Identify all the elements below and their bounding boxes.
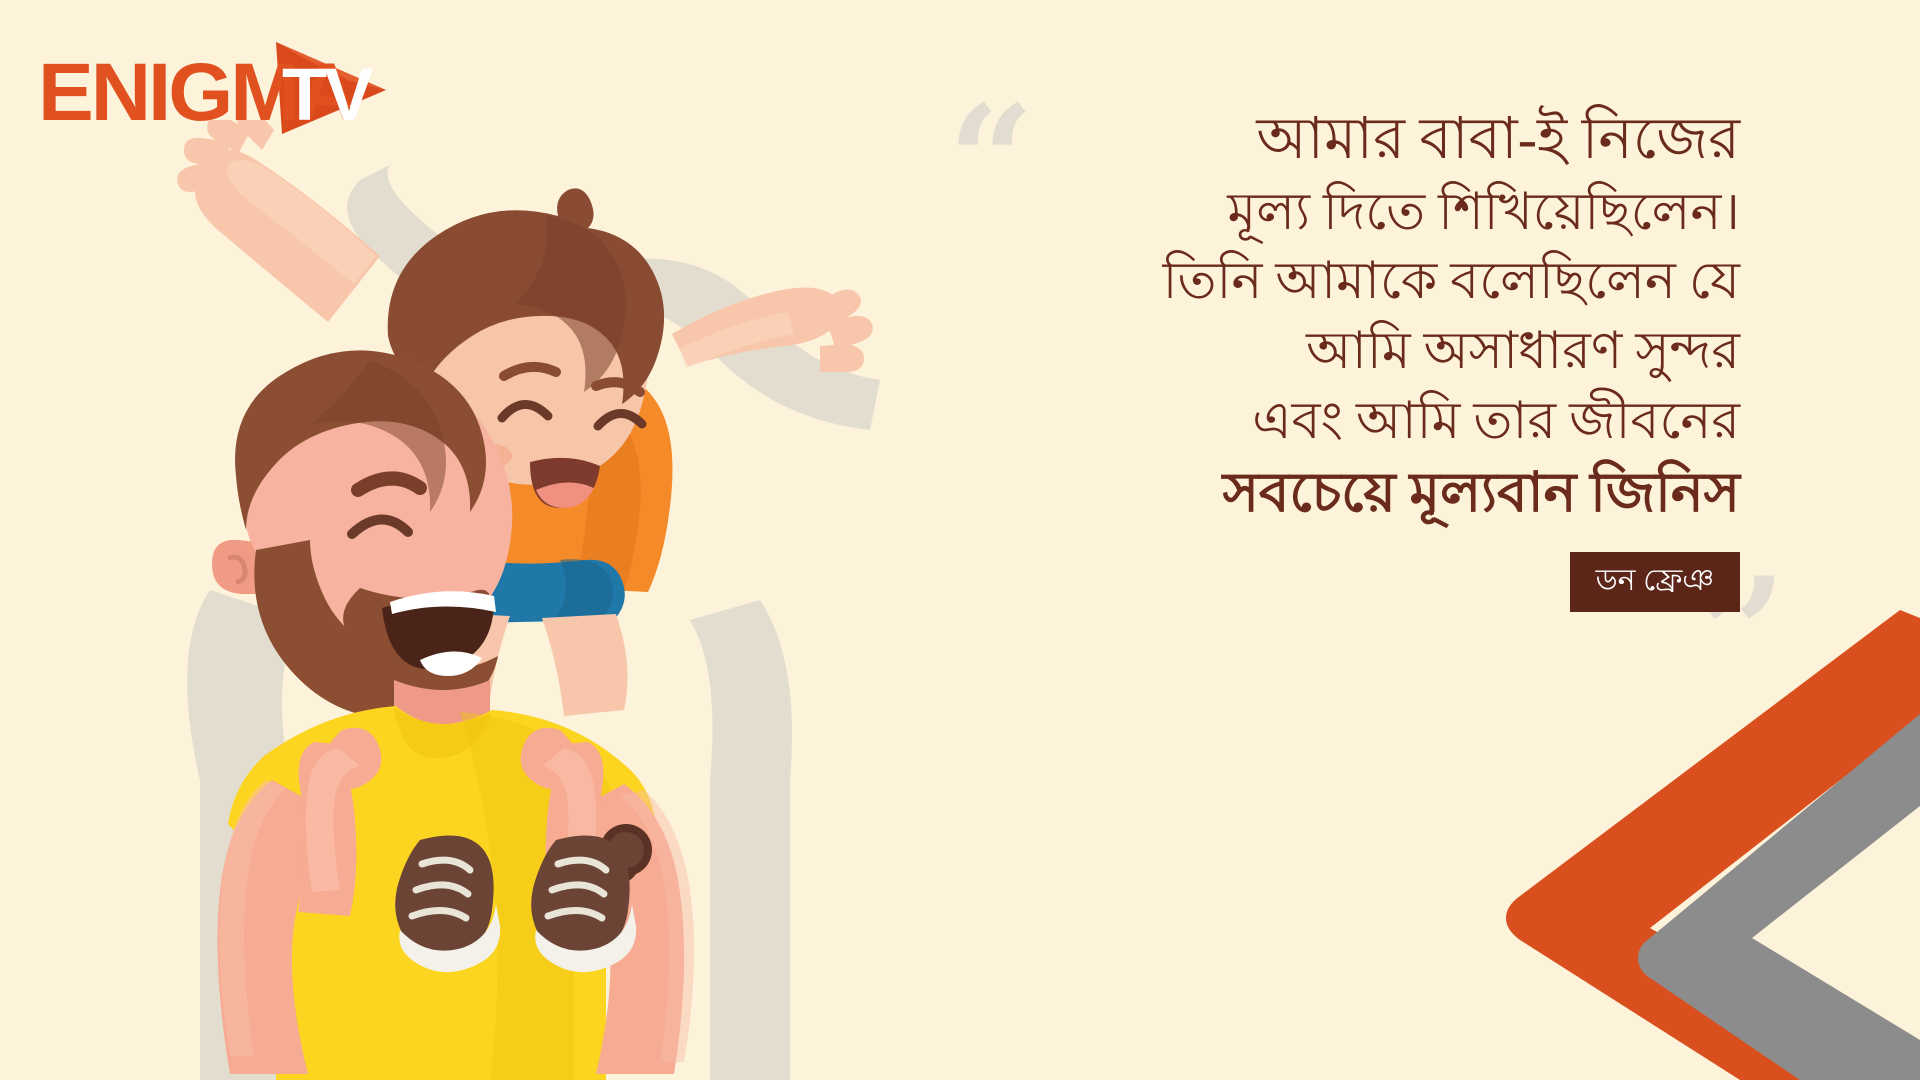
chevron-decoration: [1500, 610, 1920, 1080]
quote-line-1: আমার বাবা-ই নিজের: [980, 100, 1740, 178]
poster-canvas: ENIGMA TV: [0, 0, 1920, 1080]
father-and-son-illustration: [60, 120, 1000, 1080]
quote-line-3: তিনি আমাকে বলেছিলেন যে: [980, 247, 1740, 317]
author-badge: ডন ফ্রেঞ: [1570, 552, 1740, 612]
quote-block: “ আমার বাবা-ই নিজের মূল্য দিতে শিখিয়েছি…: [980, 100, 1740, 612]
author-row: ডন ফ্রেঞ: [980, 552, 1740, 612]
child-left-arm: [177, 120, 380, 322]
quote-line-2: মূল্য দিতে শিখিয়েছিলেন।: [980, 178, 1740, 248]
quote-line-5: এবং আমি তার জীবনের: [980, 387, 1740, 457]
quote-line-4: আমি অসাধারণ সুন্দর: [980, 317, 1740, 387]
quote-line-6: সবচেয়ে মূল্যবান জিনিস: [980, 456, 1740, 530]
